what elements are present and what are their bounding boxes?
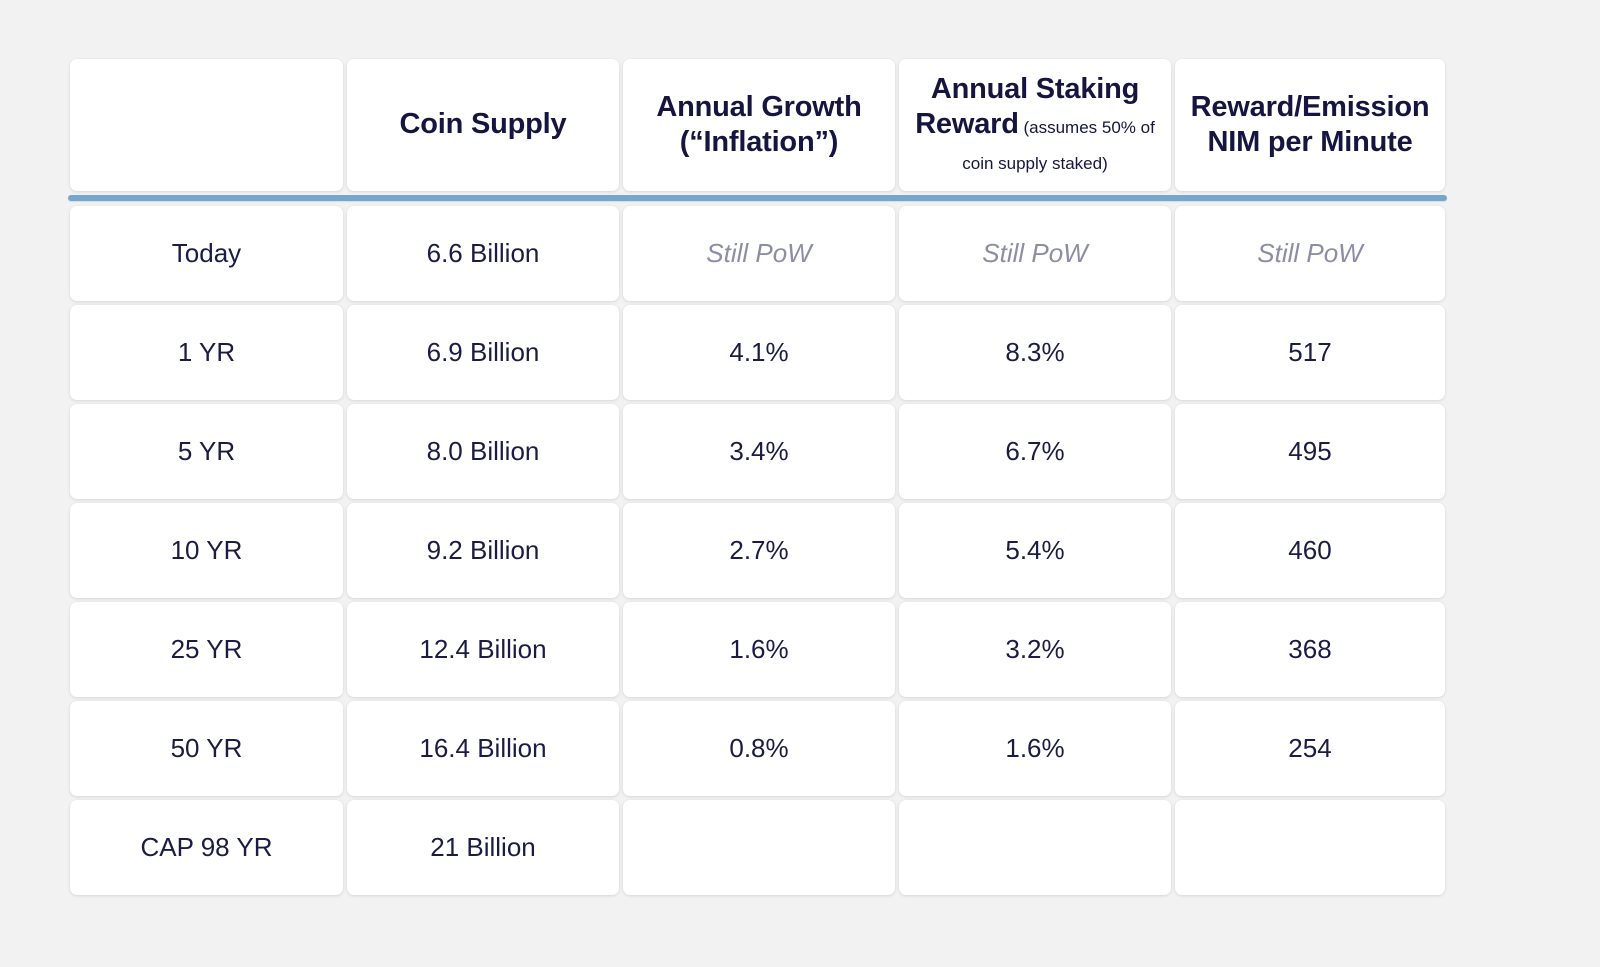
header-label-annual-growth: Annual Growth (“Inflation”) xyxy=(633,90,885,161)
table-row: 1 YR 6.9 Billion 4.1% 8.3% 517 xyxy=(68,303,1447,402)
cell-value: 50 YR xyxy=(171,733,243,764)
cell-annual-growth: 1.6% xyxy=(621,600,897,699)
cell-value: 0.8% xyxy=(729,733,788,764)
header-label-staking-reward: Annual Staking Reward (assumes 50% of co… xyxy=(909,72,1161,178)
cell-staking-reward: Still PoW xyxy=(897,204,1173,303)
cell-value: 16.4 Billion xyxy=(419,733,546,764)
header-cell-annual-growth: Annual Growth (“Inflation”) xyxy=(621,57,897,193)
cell-coin-supply: 9.2 Billion xyxy=(345,501,621,600)
table-row: 25 YR 12.4 Billion 1.6% 3.2% 368 xyxy=(68,600,1447,699)
cell-value: 3.4% xyxy=(729,436,788,467)
cell-value: 8.3% xyxy=(1005,337,1064,368)
cell-staking-reward: 6.7% xyxy=(897,402,1173,501)
cell-value: 254 xyxy=(1288,733,1331,764)
cell-reward-per-minute: 368 xyxy=(1173,600,1447,699)
table: Coin Supply Annual Growth (“Inflation”) … xyxy=(68,57,1447,897)
cell-value: 495 xyxy=(1288,436,1331,467)
cell-reward-per-minute xyxy=(1173,798,1447,897)
header-cell-coin-supply: Coin Supply xyxy=(345,57,621,193)
cell-value: Today xyxy=(172,238,241,269)
cell-coin-supply: 21 Billion xyxy=(345,798,621,897)
cell-value: 368 xyxy=(1288,634,1331,665)
cell-value: 5 YR xyxy=(178,436,235,467)
cell-annual-growth: 4.1% xyxy=(621,303,897,402)
cell-value: Still PoW xyxy=(706,238,811,269)
cell-annual-growth: Still PoW xyxy=(621,204,897,303)
cell-annual-growth: 2.7% xyxy=(621,501,897,600)
cell-value: Still PoW xyxy=(1257,238,1362,269)
cell-staking-reward: 8.3% xyxy=(897,303,1173,402)
cell-period: 5 YR xyxy=(68,402,345,501)
cell-value: 5.4% xyxy=(1005,535,1064,566)
cell-value: 3.2% xyxy=(1005,634,1064,665)
cell-value: 25 YR xyxy=(171,634,243,665)
cell-value: 6.6 Billion xyxy=(427,238,540,269)
cell-period: 10 YR xyxy=(68,501,345,600)
cell-staking-reward: 5.4% xyxy=(897,501,1173,600)
table-row: Today 6.6 Billion Still PoW Still PoW St… xyxy=(68,204,1447,303)
cell-value: 9.2 Billion xyxy=(427,535,540,566)
cell-coin-supply: 12.4 Billion xyxy=(345,600,621,699)
cell-reward-per-minute: Still PoW xyxy=(1173,204,1447,303)
cell-period: 1 YR xyxy=(68,303,345,402)
header-label-coin-supply: Coin Supply xyxy=(400,107,567,142)
table-header-row: Coin Supply Annual Growth (“Inflation”) … xyxy=(68,57,1447,193)
cell-value: 8.0 Billion xyxy=(427,436,540,467)
cell-annual-growth: 3.4% xyxy=(621,402,897,501)
cell-value: 1 YR xyxy=(178,337,235,368)
table-row: 10 YR 9.2 Billion 2.7% 5.4% 460 xyxy=(68,501,1447,600)
cell-value: 1.6% xyxy=(729,634,788,665)
header-cell-reward-per-minute: Reward/Emission NIM per Minute xyxy=(1173,57,1447,193)
cell-value: 460 xyxy=(1288,535,1331,566)
cell-reward-per-minute: 517 xyxy=(1173,303,1447,402)
cell-coin-supply: 16.4 Billion xyxy=(345,699,621,798)
cell-period: Today xyxy=(68,204,345,303)
cell-reward-per-minute: 460 xyxy=(1173,501,1447,600)
cell-value: 6.7% xyxy=(1005,436,1064,467)
cell-value: 6.9 Billion xyxy=(427,337,540,368)
cell-coin-supply: 6.9 Billion xyxy=(345,303,621,402)
header-cell-period xyxy=(68,57,345,193)
cell-period: CAP 98 YR xyxy=(68,798,345,897)
cell-period: 50 YR xyxy=(68,699,345,798)
cell-reward-per-minute: 254 xyxy=(1173,699,1447,798)
cell-period: 25 YR xyxy=(68,600,345,699)
cell-value: 517 xyxy=(1288,337,1331,368)
cell-staking-reward: 1.6% xyxy=(897,699,1173,798)
header-label-reward-per-minute: Reward/Emission NIM per Minute xyxy=(1185,90,1435,161)
cell-value: 21 Billion xyxy=(430,832,536,863)
cell-annual-growth xyxy=(621,798,897,897)
cell-coin-supply: 8.0 Billion xyxy=(345,402,621,501)
table-row: 5 YR 8.0 Billion 3.4% 6.7% 495 xyxy=(68,402,1447,501)
cell-value: 1.6% xyxy=(1005,733,1064,764)
cell-staking-reward: 3.2% xyxy=(897,600,1173,699)
cell-value: CAP 98 YR xyxy=(140,832,272,863)
table-row: CAP 98 YR 21 Billion xyxy=(68,798,1447,897)
cell-annual-growth: 0.8% xyxy=(621,699,897,798)
cell-value: 10 YR xyxy=(171,535,243,566)
cell-coin-supply: 6.6 Billion xyxy=(345,204,621,303)
header-accent-divider xyxy=(68,195,1447,201)
cell-value: 12.4 Billion xyxy=(419,634,546,665)
cell-value: 4.1% xyxy=(729,337,788,368)
supply-schedule-table: Coin Supply Annual Growth (“Inflation”) … xyxy=(68,57,1447,897)
header-cell-staking-reward: Annual Staking Reward (assumes 50% of co… xyxy=(897,57,1173,193)
cell-value: Still PoW xyxy=(982,238,1087,269)
table-row: 50 YR 16.4 Billion 0.8% 1.6% 254 xyxy=(68,699,1447,798)
cell-staking-reward xyxy=(897,798,1173,897)
cell-value: 2.7% xyxy=(729,535,788,566)
cell-reward-per-minute: 495 xyxy=(1173,402,1447,501)
